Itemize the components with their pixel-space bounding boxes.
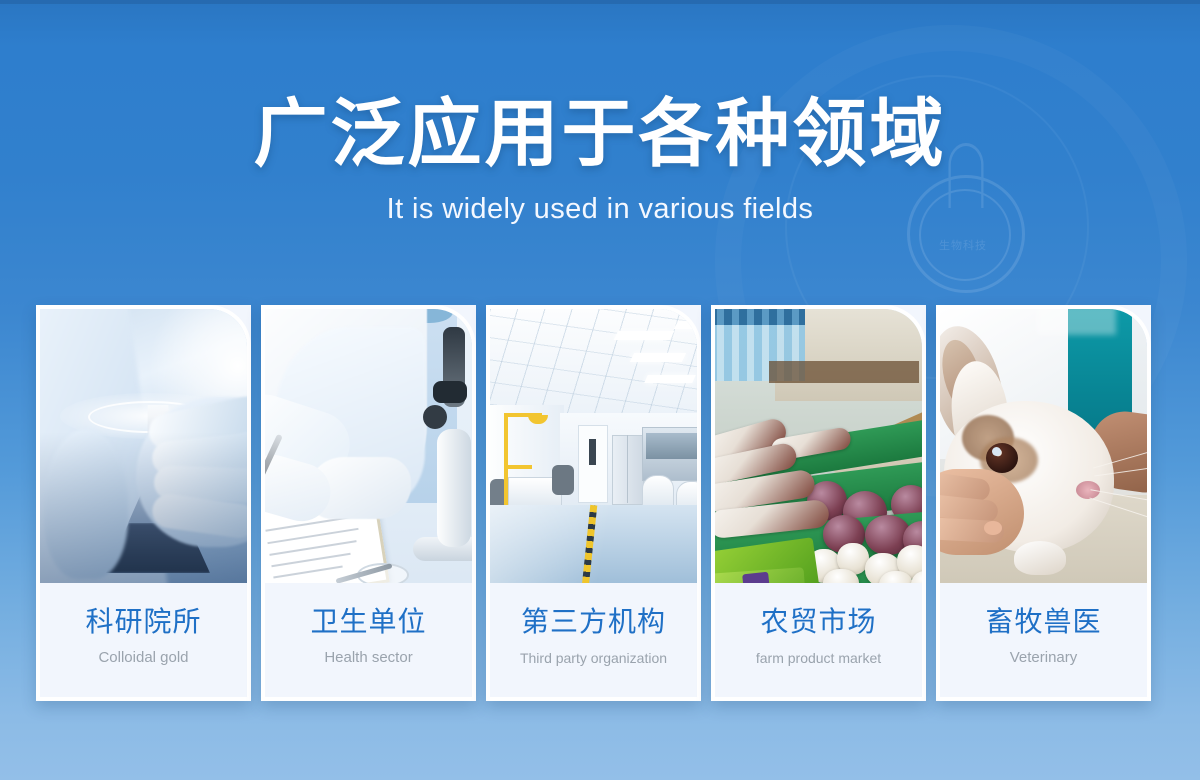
card-caption-health-sector: 卫生单位 Health sector xyxy=(261,583,476,701)
card-subtitle: Colloidal gold xyxy=(98,648,188,668)
application-fields-card-list: 科研院所 Colloidal gold xyxy=(36,305,1164,701)
farm-market-produce-crates-photo xyxy=(711,305,926,583)
card-caption-veterinary: 畜牧兽医 Veterinary xyxy=(936,583,1151,701)
card-subtitle: Health sector xyxy=(324,648,412,668)
card-caption-third-party: 第三方机构 Third party organization xyxy=(486,583,701,701)
card-title: 科研院所 xyxy=(85,605,201,639)
watermark-label: 生物科技 xyxy=(925,237,1001,253)
card-subtitle: Veterinary xyxy=(1010,648,1078,668)
application-card-veterinary[interactable]: 畜牧兽医 Veterinary xyxy=(936,305,1151,701)
card-title: 第三方机构 xyxy=(521,605,666,639)
application-card-research-institute[interactable]: 科研院所 Colloidal gold xyxy=(36,305,251,701)
card-title: 卫生单位 xyxy=(310,605,426,639)
card-caption-farm-market: 农贸市场 farm product market xyxy=(711,583,926,701)
application-card-farm-market[interactable]: 农贸市场 farm product market xyxy=(711,305,926,701)
lab-gloved-hands-flask-photo xyxy=(36,305,251,583)
promotional-banner: 生物科技 广泛应用于各种领域 It is widely used in vari… xyxy=(0,0,1200,780)
card-subtitle: farm product market xyxy=(756,648,881,668)
page-title: 广泛应用于各种领域 xyxy=(0,0,1200,176)
scientist-writing-microscope-photo xyxy=(261,305,476,583)
card-subtitle: Third party organization xyxy=(520,648,667,668)
card-title: 农贸市场 xyxy=(760,605,876,639)
clean-laboratory-room-photo xyxy=(486,305,701,583)
banner-heading-group: 广泛应用于各种领域 It is widely used in various f… xyxy=(0,0,1200,226)
card-caption-research-institute: 科研院所 Colloidal gold xyxy=(36,583,251,701)
card-title: 畜牧兽医 xyxy=(985,605,1101,639)
page-subtitle: It is widely used in various fields xyxy=(0,176,1200,226)
application-card-health-sector[interactable]: 卫生单位 Health sector xyxy=(261,305,476,701)
veterinarian-holding-rabbit-photo xyxy=(936,305,1151,583)
application-card-third-party[interactable]: 第三方机构 Third party organization xyxy=(486,305,701,701)
